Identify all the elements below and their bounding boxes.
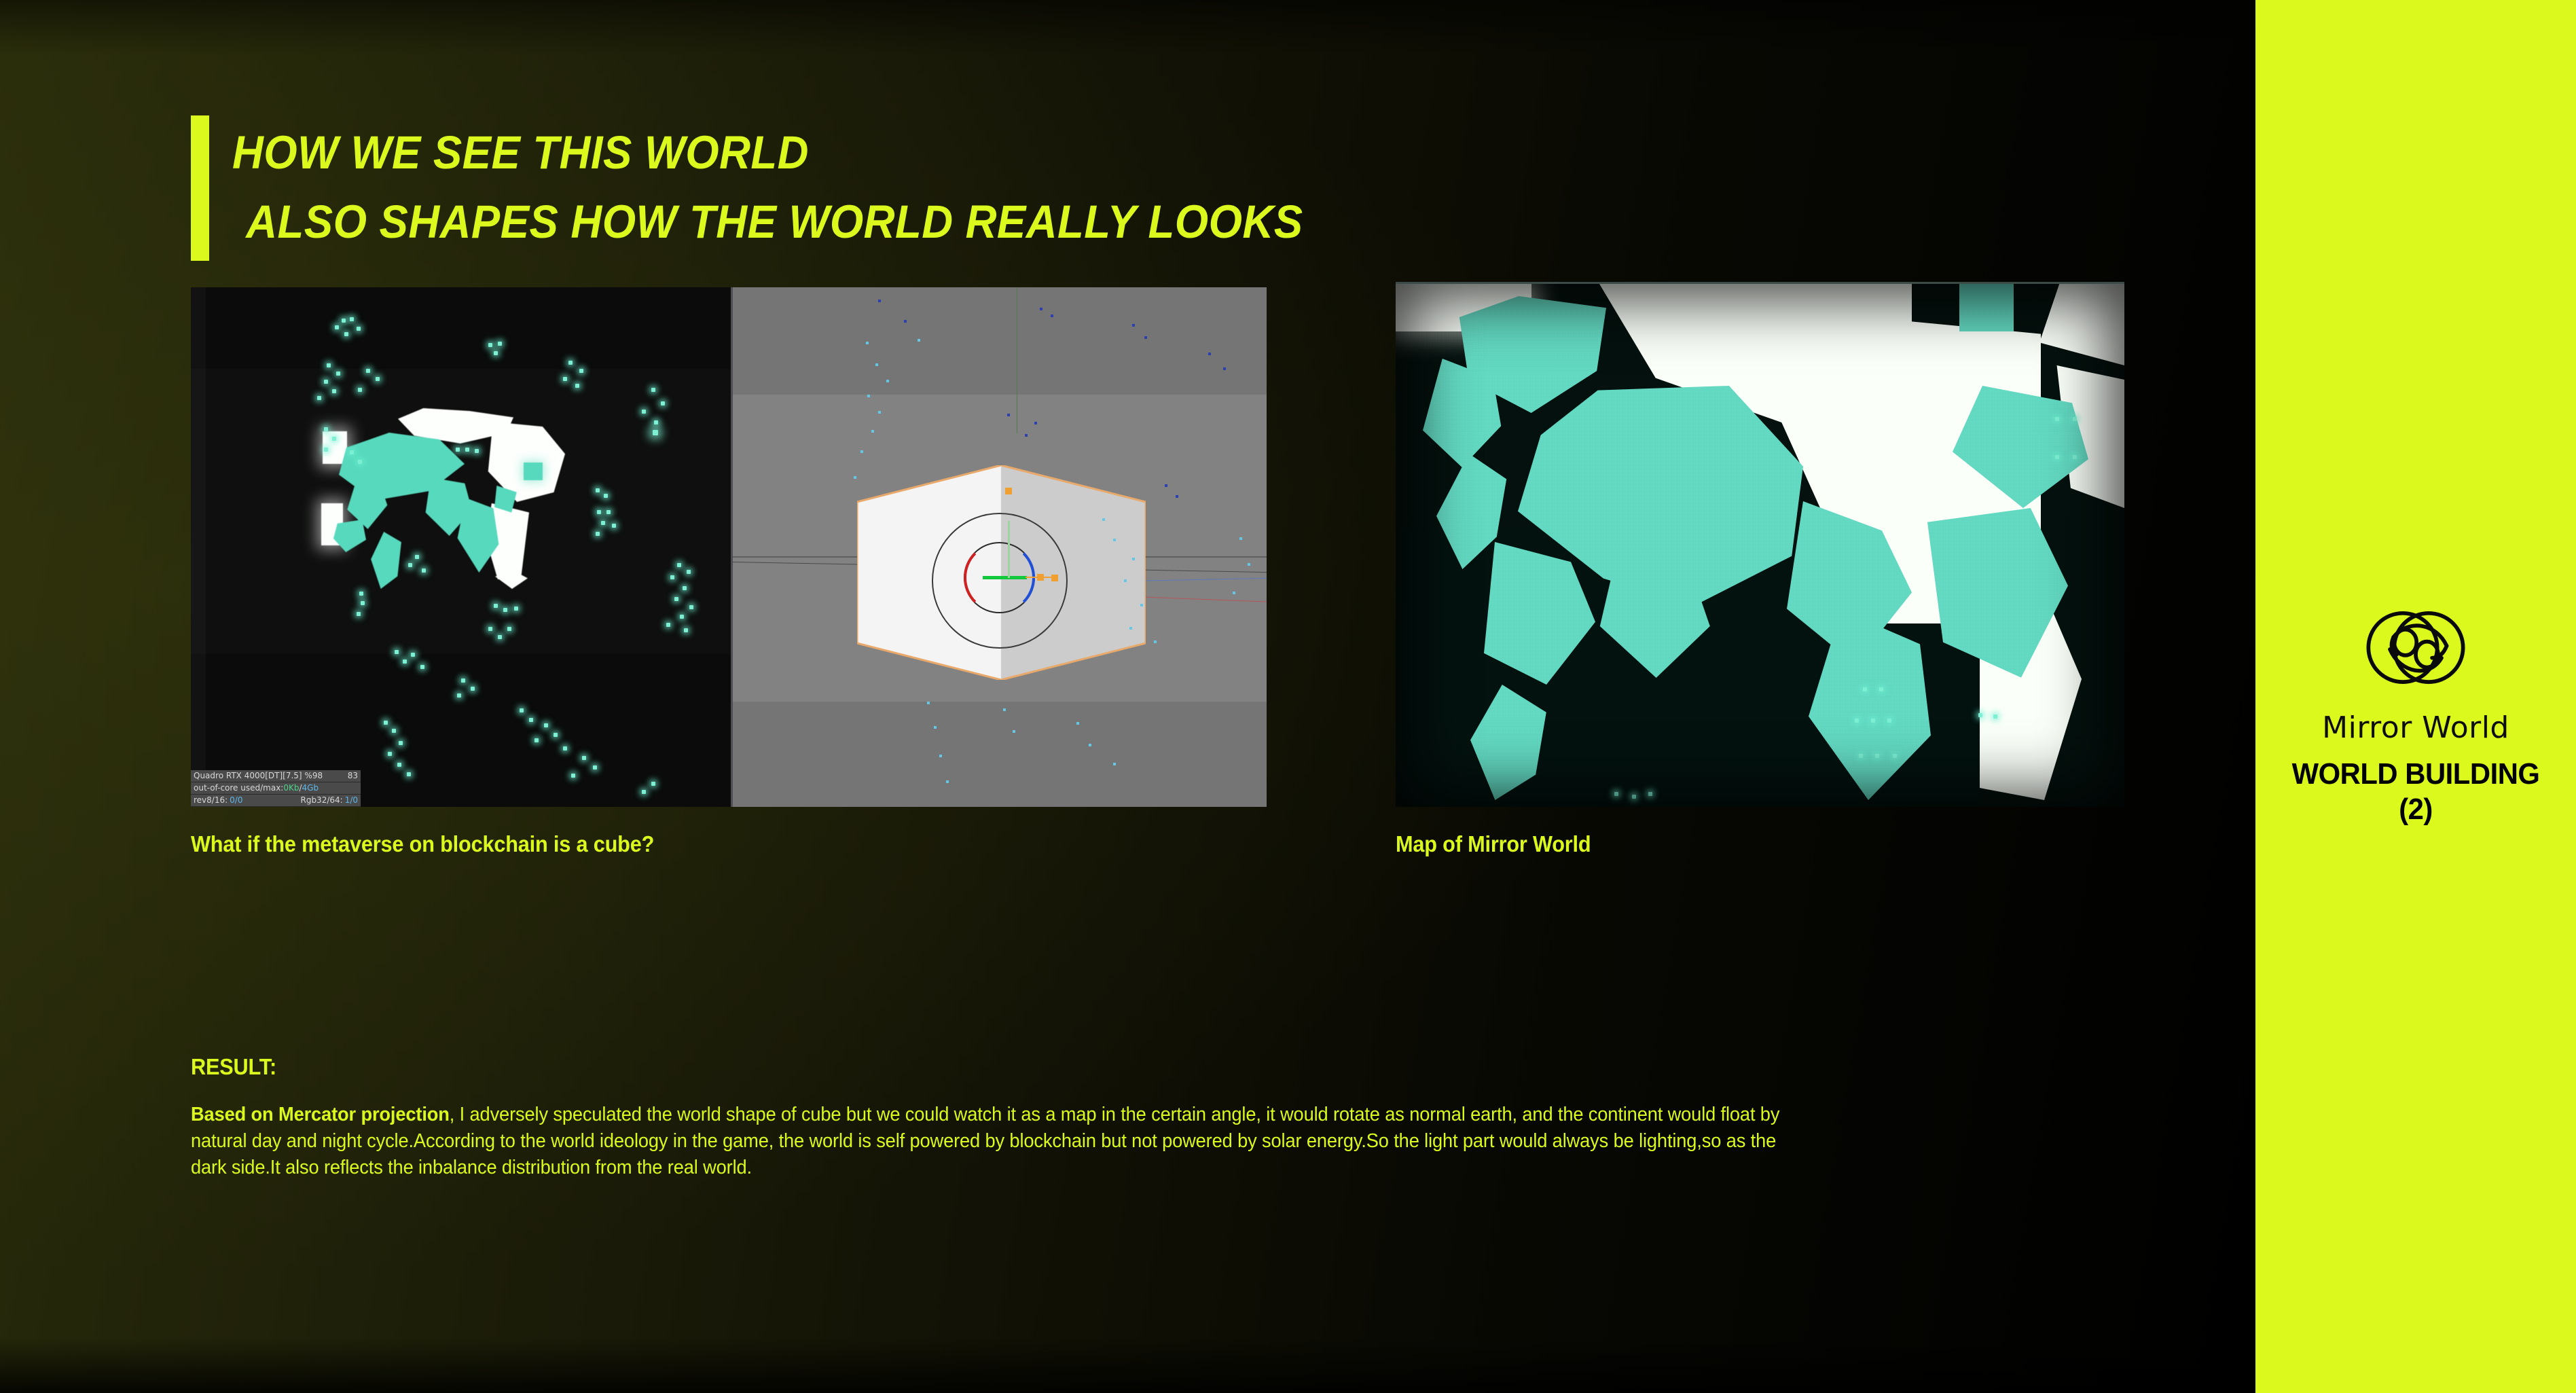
caption-blender-figure: What if the metaverse on blockchain is a…	[191, 831, 654, 857]
render-preview-pane: Quadro RTX 4000[DT][7.5] %98 83 out-of-c…	[191, 287, 731, 807]
result-lead-phrase: Based on Mercator projection	[191, 1104, 450, 1125]
gpu-rev-label: rev8/16:	[194, 795, 228, 806]
gizmo-axis-y-green[interactable]	[983, 576, 1027, 579]
title-line-2: ALSO SHAPES HOW THE WORLD REALLY LOOKS	[232, 187, 1303, 257]
gpu-stats-row-memory: out-of-core used/max: 0Kb / 4Gb	[191, 782, 361, 795]
mirror-world-map-image	[1396, 284, 2124, 807]
logo-wordmark: Mirror World	[2322, 710, 2509, 746]
sidebar-panel: Mirror World WORLD BUILDING (2)	[2255, 0, 2576, 1393]
figure-blender-screenshot: Quadro RTX 4000[DT][7.5] %98 83 out-of-c…	[191, 287, 1267, 807]
figure-mirror-world-map	[1396, 282, 2124, 807]
gpu-rev-value: 0/0	[230, 795, 242, 806]
page-title: HOW WE SEE THIS WORLD ALSO SHAPES HOW TH…	[191, 115, 1396, 261]
gpu-device-value: 83	[348, 771, 358, 781]
viewport-band-bottom	[733, 702, 1267, 807]
result-paragraph: Based on Mercator projection, I adversel…	[191, 1102, 1806, 1181]
result-heading: RESULT:	[191, 1054, 276, 1080]
render-world-map	[320, 403, 598, 634]
slide-canvas: HOW WE SEE THIS WORLD ALSO SHAPES HOW TH…	[0, 0, 2576, 1393]
gizmo-handle-top[interactable]	[1005, 488, 1012, 494]
gpu-rgb-label: Rgb32/64:	[300, 795, 342, 806]
gpu-device-label: Quadro RTX 4000[DT][7.5] %98	[194, 771, 323, 781]
mirror-world-swirl-icon	[2364, 598, 2467, 701]
caption-map-figure: Map of Mirror World	[1396, 831, 1591, 857]
gizmo-axis-vertical[interactable]	[1008, 521, 1010, 578]
gpu-memory-used: 0Kb	[283, 783, 299, 793]
gpu-stats-row-device: Quadro RTX 4000[DT][7.5] %98 83	[191, 770, 361, 782]
gpu-stats-row-buffers: rev8/16: 0/0 Rgb32/64: 1/0	[191, 795, 361, 807]
sidebar-section-title-text: WORLD BUILDING	[2292, 757, 2540, 791]
gpu-rgb-value: 1/0	[345, 795, 358, 806]
gpu-memory-max: 4Gb	[302, 783, 319, 793]
sidebar-section-title: WORLD BUILDING (2)	[2292, 757, 2540, 827]
cube-object	[857, 431, 1146, 713]
viewport-band-top	[733, 287, 1267, 395]
title-line-1: HOW WE SEE THIS WORLD	[232, 118, 1303, 187]
gizmo-handle-mid[interactable]	[1037, 574, 1044, 581]
gizmo-handle-end[interactable]	[1051, 575, 1058, 581]
viewport-axis-y-line	[1017, 287, 1017, 433]
gpu-memory-label: out-of-core used/max:	[194, 783, 283, 793]
sidebar-section-number: (2)	[2292, 792, 2540, 827]
title-accent-bar	[191, 115, 209, 261]
gpu-stats-overlay: Quadro RTX 4000[DT][7.5] %98 83 out-of-c…	[191, 770, 361, 807]
viewport-3d-pane	[731, 287, 1267, 807]
